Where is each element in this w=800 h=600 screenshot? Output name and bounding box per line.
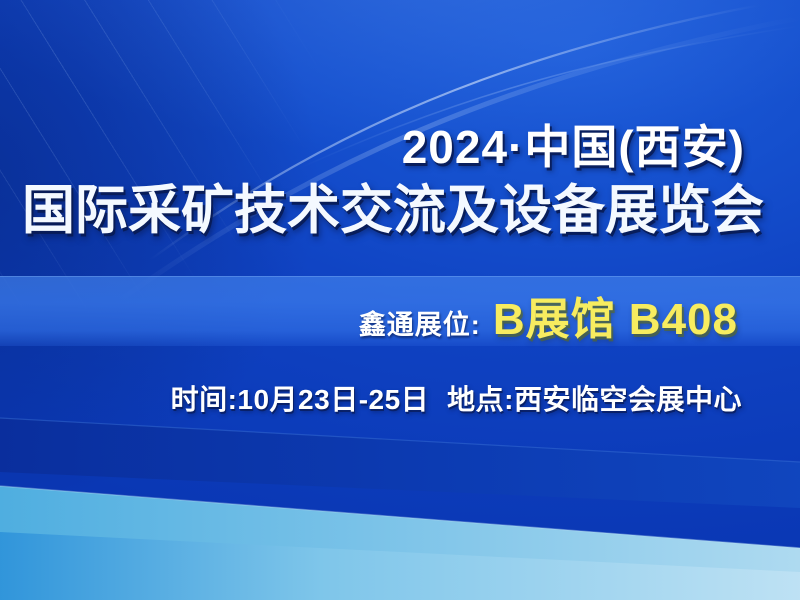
poster-text-content: 2024·中国(西安) 国际采矿技术交流及设备展览会 鑫通展位: B展馆 B40…	[0, 0, 800, 600]
booth-label: 鑫通展位:	[359, 303, 481, 342]
booth-info-row: 鑫通展位: B展馆 B408	[0, 283, 738, 347]
event-venue: 地点:西安临空会展中心	[447, 384, 742, 415]
event-meta-row: 时间:10月23日-25日地点:西安临空会展中心	[0, 378, 742, 418]
booth-number: B展馆 B408	[493, 283, 738, 347]
exhibition-poster: 2024·中国(西安) 国际采矿技术交流及设备展览会 鑫通展位: B展馆 B40…	[0, 0, 800, 600]
page-title-line-1: 2024·中国(西安)	[0, 124, 745, 170]
event-date: 时间:10月23日-25日	[171, 384, 430, 415]
page-title-line-2: 国际采矿技术交流及设备展览会	[22, 182, 748, 239]
